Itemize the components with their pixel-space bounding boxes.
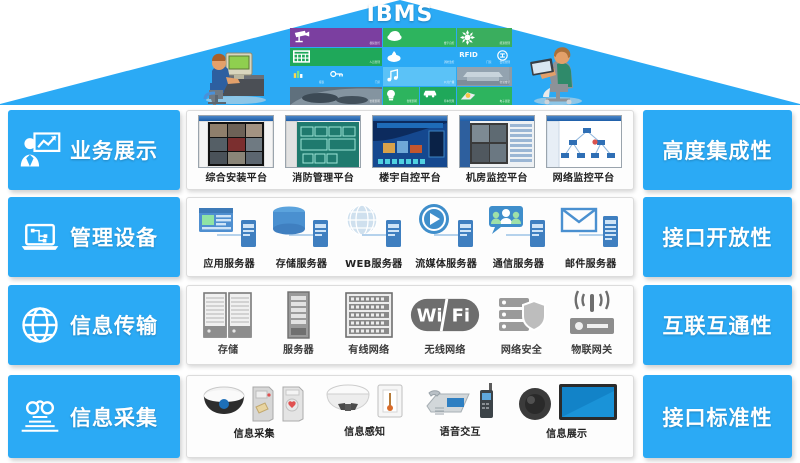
feature-interconnection[interactable]: 互联互通性 [643, 285, 792, 365]
tile-fire-monitoring[interactable]: 消防监控 [383, 48, 456, 67]
display-screen-icon [558, 382, 618, 422]
device-caption: 信息采集 [234, 425, 275, 440]
tile-patrol[interactable]: 电子巡更 [457, 87, 512, 106]
svg-text:Fi: Fi [452, 306, 470, 327]
network-caption: 网络安全 [501, 341, 542, 356]
wireless-gateway-icon [562, 290, 622, 340]
tile-video-surveillance[interactable]: 视频监控 [290, 28, 382, 47]
platform-caption: 网络监控平台 [553, 169, 615, 184]
tile-public-broadcast[interactable]: 公共广播 [383, 67, 456, 86]
network-rack-icon [339, 290, 399, 340]
network-caption: 存储 [218, 341, 239, 356]
server-item[interactable]: 流媒体服务器 [414, 202, 478, 270]
tile-smart-building[interactable]: 智慧楼宇 [457, 67, 512, 86]
tile-label: 消防监控 [444, 62, 454, 65]
tile-label: 智能照明 [370, 101, 380, 104]
server-caption: WEB服务器 [345, 255, 402, 270]
desk-phone-icon [423, 384, 473, 420]
people-chat-server-icon [486, 202, 550, 254]
network-caption: 无线网络 [425, 341, 466, 356]
layer-information-collection: 信息采集 [0, 375, 800, 458]
sidebar-item-business-display[interactable]: 业务展示 [8, 110, 180, 190]
fire-plan-screenshot [285, 115, 361, 168]
svg-text:Wi: Wi [417, 306, 443, 327]
ibms-architecture-diagram: IBMS [0, 0, 800, 463]
person-at-desktop-icon [196, 45, 272, 105]
layer-information-transmission: 信息传输 存储 服务器 [0, 285, 800, 365]
play-button-server-icon [414, 202, 478, 254]
feature-highly-integrated[interactable]: 高度集成性 [643, 110, 792, 190]
temperature-switch-icon [375, 382, 405, 420]
platform-caption: 楼宇自控平台 [379, 169, 441, 184]
server-item[interactable]: 邮件服务器 [559, 202, 623, 270]
tile-label: 报表 [319, 82, 324, 85]
tile-personnel-management[interactable]: 人员管理 [290, 48, 382, 67]
network-item[interactable]: 服务器 [268, 290, 328, 356]
network-item[interactable]: 网络安全 [491, 290, 551, 356]
network-caption: 服务器 [283, 341, 314, 356]
device-group[interactable]: 信息展示 [516, 382, 618, 440]
globe-icon [18, 303, 62, 347]
server-caption: 通信服务器 [493, 255, 545, 270]
management-equipment-panel: 应用服务器 存储服务器 [186, 197, 634, 277]
platform-item[interactable]: 楼宇自控平台 [372, 115, 448, 184]
network-item[interactable]: 存储 [198, 290, 258, 356]
tile-smart-lighting-photo[interactable]: 智能照明 [290, 87, 382, 106]
business-display-panel: 综合安装平台 消防管 [186, 110, 634, 190]
server-item[interactable]: 应用服务器 [197, 202, 261, 270]
roof-title: IBMS [0, 2, 800, 27]
walkie-talkie-icon [477, 382, 497, 420]
wifi-logo-icon: Wi Fi [409, 290, 481, 340]
platform-item[interactable]: 综合安装平台 [198, 115, 274, 184]
tile-parking-management[interactable]: 停车管理 [420, 87, 456, 106]
sidebar-label: 信息传输 [70, 310, 158, 340]
binoculars-collection-icon [18, 395, 62, 439]
sidebar-item-information-collection[interactable]: 信息采集 [8, 375, 180, 458]
network-topology-screenshot [546, 115, 622, 168]
platform-item[interactable]: 机房监控平台 [459, 115, 535, 184]
tile-label: 门禁 [486, 62, 491, 65]
ibms-module-tile-grid: 视频监控 楼宇自控 能源管理 人员管理 消防监控 RFID 门禁 [290, 28, 512, 105]
person-with-laptop-icon [524, 44, 590, 105]
roof-section: IBMS [0, 0, 800, 105]
sidebar-label: 信息采集 [70, 402, 158, 432]
business-presentation-icon [18, 128, 62, 172]
smoke-detector-icon [325, 382, 371, 420]
device-caption: 信息感知 [344, 423, 385, 438]
feature-label: 互联互通性 [663, 310, 773, 340]
tile-label: 停车管理 [444, 101, 454, 104]
sidebar-label: 业务展示 [70, 135, 158, 165]
database-cylinder-server-icon [269, 202, 333, 254]
information-collection-panel: 信息采集 [186, 375, 634, 458]
server-item[interactable]: 存储服务器 [269, 202, 333, 270]
tile-label: 门禁 [375, 82, 380, 85]
sidebar-item-information-transmission[interactable]: 信息传输 [8, 285, 180, 365]
storage-rack-icon [198, 290, 258, 340]
network-item[interactable]: 有线网络 [339, 290, 399, 356]
tile-label: 人员管理 [370, 62, 380, 65]
platform-caption: 综合安装平台 [205, 169, 267, 184]
network-caption: 有线网络 [348, 341, 389, 356]
video-wall-screenshot [198, 115, 274, 168]
app-window-server-icon [197, 202, 261, 254]
tile-meeting-management[interactable]: 会议管理 [494, 48, 512, 67]
layer-business-display: 业务展示 综合安装平台 [0, 110, 800, 190]
server-caption: 流媒体服务器 [415, 255, 477, 270]
sidebar-label: 管理设备 [70, 222, 158, 252]
feature-standard-interface[interactable]: 接口标准性 [643, 375, 792, 458]
tile-label: 能源管理 [500, 43, 510, 46]
network-caption: 物联网关 [571, 341, 612, 356]
tile-label: 智慧楼宇 [500, 82, 510, 85]
device-group[interactable]: 语音交互 [423, 382, 497, 438]
network-item[interactable]: 物联网关 [562, 290, 622, 356]
layer-management-equipment: 管理设备 应用服务器 [0, 197, 800, 277]
emergency-button-icon [280, 384, 306, 422]
tile-smart-lighting[interactable]: 智能照明 [383, 87, 419, 106]
server-caption: 邮件服务器 [565, 255, 617, 270]
tile-energy-management[interactable]: 能源管理 [457, 28, 512, 47]
server-caption: 应用服务器 [203, 255, 255, 270]
datacenter-screenshot [459, 115, 535, 168]
laptop-network-icon [18, 215, 62, 259]
tile-rfid[interactable]: RFID 门禁 [457, 48, 493, 67]
feature-label: 接口开放性 [663, 222, 773, 252]
globe-server-icon [342, 202, 406, 254]
platform-caption: 机房监控平台 [466, 169, 528, 184]
card-reader-icon [250, 384, 276, 422]
device-caption: 语音交互 [440, 423, 481, 438]
server-item[interactable]: WEB服务器 [342, 202, 406, 270]
tile-label: 楼宇自控 [444, 43, 454, 46]
network-item[interactable]: Wi Fi 无线网络 [409, 290, 481, 356]
tile-label: 会议管理 [500, 62, 510, 65]
server-tower-icon [268, 290, 328, 340]
tile-access-control[interactable]: 门禁 [327, 67, 382, 86]
tile-building-automation[interactable]: 楼宇自控 [383, 28, 456, 47]
tile-label: 公共广播 [444, 82, 454, 85]
tile-label: 智能照明 [407, 101, 417, 104]
envelope-server-icon [559, 202, 623, 254]
bms-screenshot [372, 115, 448, 168]
server-caption: 存储服务器 [276, 255, 328, 270]
feature-label: 接口标准性 [663, 402, 773, 432]
device-group[interactable]: 信息采集 [202, 382, 306, 440]
sidebar-item-management-equipment[interactable]: 管理设备 [8, 197, 180, 277]
dome-camera-icon [202, 382, 246, 422]
server-item[interactable]: 通信服务器 [486, 202, 550, 270]
device-caption: 信息展示 [546, 425, 587, 440]
feature-open-interface[interactable]: 接口开放性 [643, 197, 792, 277]
tile-reports[interactable]: 报表 [290, 67, 326, 86]
speaker-icon [516, 384, 554, 422]
information-transmission-panel: 存储 服务器 [186, 285, 634, 365]
device-group[interactable]: 信息感知 [325, 382, 405, 438]
platform-caption: 消防管理平台 [292, 169, 354, 184]
platform-item[interactable]: 消防管理平台 [285, 115, 361, 184]
tile-label: 电子巡更 [500, 101, 510, 104]
platform-item[interactable]: 网络监控平台 [546, 115, 622, 184]
tile-label: 视频监控 [370, 43, 380, 46]
rfid-icon: RFID [459, 52, 478, 59]
server-shield-icon [491, 290, 551, 340]
feature-label: 高度集成性 [663, 135, 773, 165]
